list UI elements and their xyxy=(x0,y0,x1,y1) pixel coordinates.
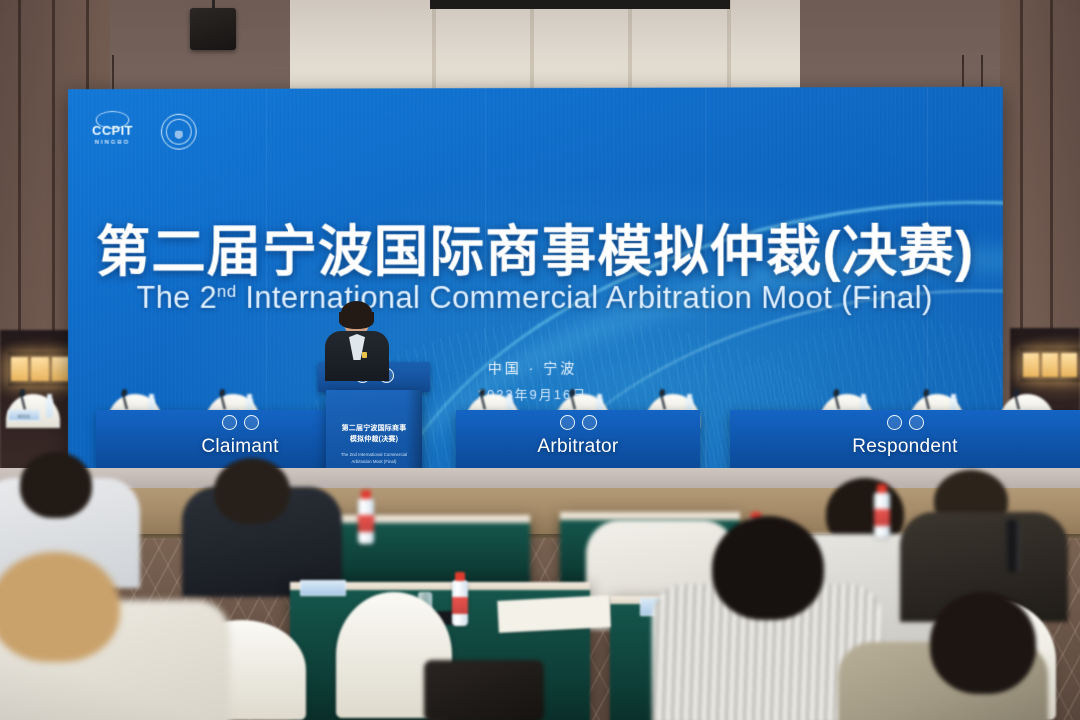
event-title-en-prefix: The 2 xyxy=(137,280,217,315)
arbitration-commission-emblem-icon xyxy=(582,415,597,430)
wall-sconce-left xyxy=(8,352,72,386)
water-bottle xyxy=(452,580,468,626)
notepad xyxy=(497,595,611,633)
event-title-cn: 第二届宁波国际商事模拟仲裁(决赛) xyxy=(68,206,1003,287)
led-logo-group: CCPIT NINGBO xyxy=(86,111,197,153)
bag xyxy=(424,660,544,720)
ccpit-logo-icon xyxy=(222,415,237,430)
water-bottle xyxy=(358,498,374,544)
stage-riser-top xyxy=(0,468,1080,490)
podium-title-en-2: Arbitration Moot (Final) xyxy=(326,459,422,466)
desk-label-arbitrator: Arbitrator xyxy=(456,436,700,458)
ccpit-logo-icon xyxy=(887,415,902,430)
stage-head-table-row: 审判员 书记员 代理人 仲裁员 首席仲裁员 仲裁员 代理人 xyxy=(0,392,1080,470)
conference-photo-scene: CCPIT NINGBO 第二届宁波国际商事模拟仲裁(决赛) The 2nd I… xyxy=(0,0,1080,720)
speaker-badge xyxy=(362,352,367,358)
desk-label-respondent: Respondent xyxy=(730,436,1080,458)
podium-title-cn-2: 模拟仲裁(决赛) xyxy=(326,435,422,445)
podium-title-en-1: The 2nd International Commercial xyxy=(326,452,422,459)
ccpit-logo-icon xyxy=(560,415,575,430)
event-title-en: The 2nd International Commercial Arbitra… xyxy=(68,280,1003,316)
water-bottle xyxy=(874,492,890,538)
podium-title-cn-1: 第二届宁波国际商事 xyxy=(326,424,422,434)
audience-person-head xyxy=(930,592,1036,694)
arbitration-commission-emblem xyxy=(161,114,197,150)
event-title-en-ordinal: nd xyxy=(217,282,237,301)
desk-arbitrator: Arbitrator xyxy=(456,410,700,470)
audience-person-head xyxy=(712,516,824,620)
ccpit-logo-subtext: NINGBO xyxy=(86,140,139,146)
ccpit-logo-text: CCPIT xyxy=(86,124,139,137)
audience-person-head xyxy=(0,552,120,662)
wall-sconce-right xyxy=(1020,348,1080,382)
desk-logo-pair xyxy=(456,415,700,430)
desk-respondent: Respondent xyxy=(730,410,1080,470)
ceiling-track-bar xyxy=(430,0,730,9)
stage-nameplate: 审判员 xyxy=(8,410,40,421)
event-location: 中国 · 宁波 xyxy=(68,357,1003,378)
arbitration-commission-emblem-icon xyxy=(909,415,924,430)
audience-person-head xyxy=(214,458,290,524)
desk-logo-pair xyxy=(730,415,1080,430)
thermos-flask xyxy=(1005,520,1021,572)
arbitration-commission-emblem-icon xyxy=(244,415,259,430)
ccpit-logo: CCPIT NINGBO xyxy=(86,111,139,153)
speaker-hair xyxy=(341,301,372,325)
ceiling-speaker-left xyxy=(190,8,236,50)
audience-person-head xyxy=(20,452,92,518)
audience-nameplate xyxy=(300,580,346,596)
